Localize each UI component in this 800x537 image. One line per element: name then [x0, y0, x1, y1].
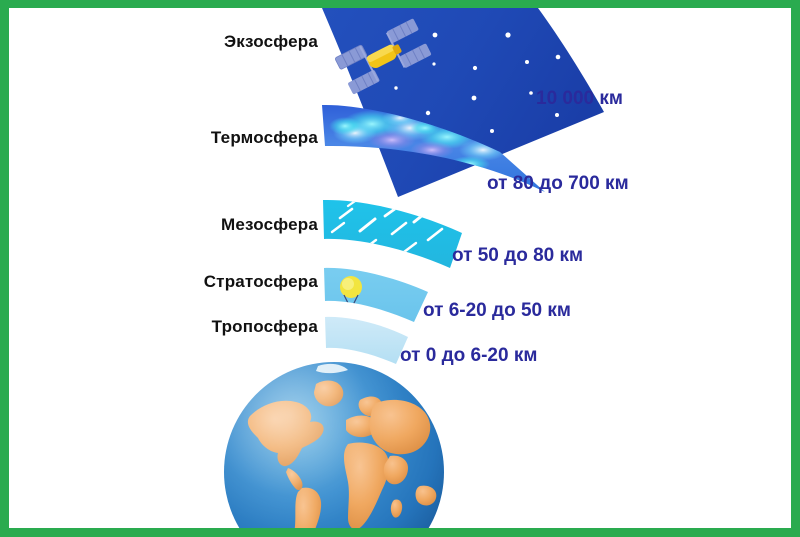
layer-band-mesosphere	[323, 199, 462, 268]
frame-top-border	[0, 0, 800, 8]
layer-label-mesosphere: Мезосфера	[221, 215, 318, 235]
atmosphere-layers-diagram: Слои атмосферы Земли	[0, 0, 800, 537]
star-icon	[556, 55, 561, 60]
altitude-label-thermosphere: от 80 до 700 км	[487, 173, 629, 195]
layer-band-troposphere	[325, 317, 408, 364]
layer-label-troposphere: Тропосфера	[212, 317, 318, 337]
altitude-label-mesosphere: от 50 до 80 км	[452, 245, 583, 267]
star-icon	[432, 62, 435, 65]
altitude-label-exosphere: 10 000 км	[536, 88, 623, 110]
star-icon	[529, 91, 533, 95]
star-icon	[525, 60, 529, 64]
star-icon	[394, 86, 397, 89]
layer-label-stratosphere: Стратосфера	[204, 272, 318, 292]
layer-band-stratosphere	[324, 268, 428, 322]
altitude-label-stratosphere: от 6-20 до 50 км	[423, 300, 571, 322]
star-icon	[490, 129, 494, 133]
frame-bottom-border	[0, 528, 800, 537]
earth-globe	[222, 360, 446, 537]
star-icon	[433, 33, 438, 38]
star-icon	[505, 32, 510, 37]
frame-left-border	[0, 0, 9, 537]
star-icon	[472, 96, 477, 101]
star-icon	[473, 66, 477, 70]
layer-label-thermosphere: Термосфера	[211, 128, 318, 148]
altitude-label-troposphere: от 0 до 6-20 км	[400, 345, 537, 367]
frame-right-border	[791, 0, 800, 537]
star-icon	[426, 111, 430, 115]
star-icon	[555, 113, 559, 117]
layer-label-exosphere: Экзосфера	[224, 32, 318, 52]
